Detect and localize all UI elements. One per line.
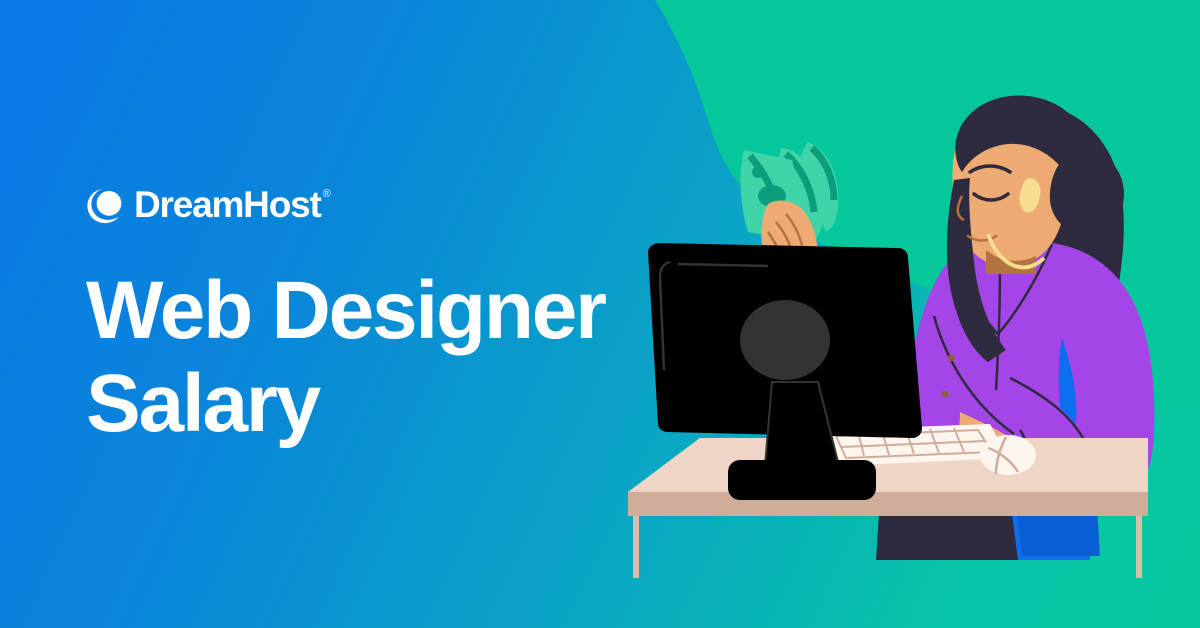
text-content: DreamHost ® Web Designer Salary — [86, 186, 646, 505]
mouse — [980, 435, 1036, 475]
dreamhost-crescent-logo-icon — [86, 187, 124, 225]
brand-wordmark: DreamHost ® — [134, 186, 331, 224]
brand-name: DreamHost — [134, 186, 321, 224]
woman-figure — [909, 95, 1155, 470]
trademark-symbol: ® — [323, 189, 331, 200]
page-title: Web Designer Salary — [86, 264, 646, 450]
promo-banner: DreamHost ® Web Designer Salary — [0, 0, 1200, 628]
brand-logo[interactable]: DreamHost ® — [86, 186, 646, 230]
